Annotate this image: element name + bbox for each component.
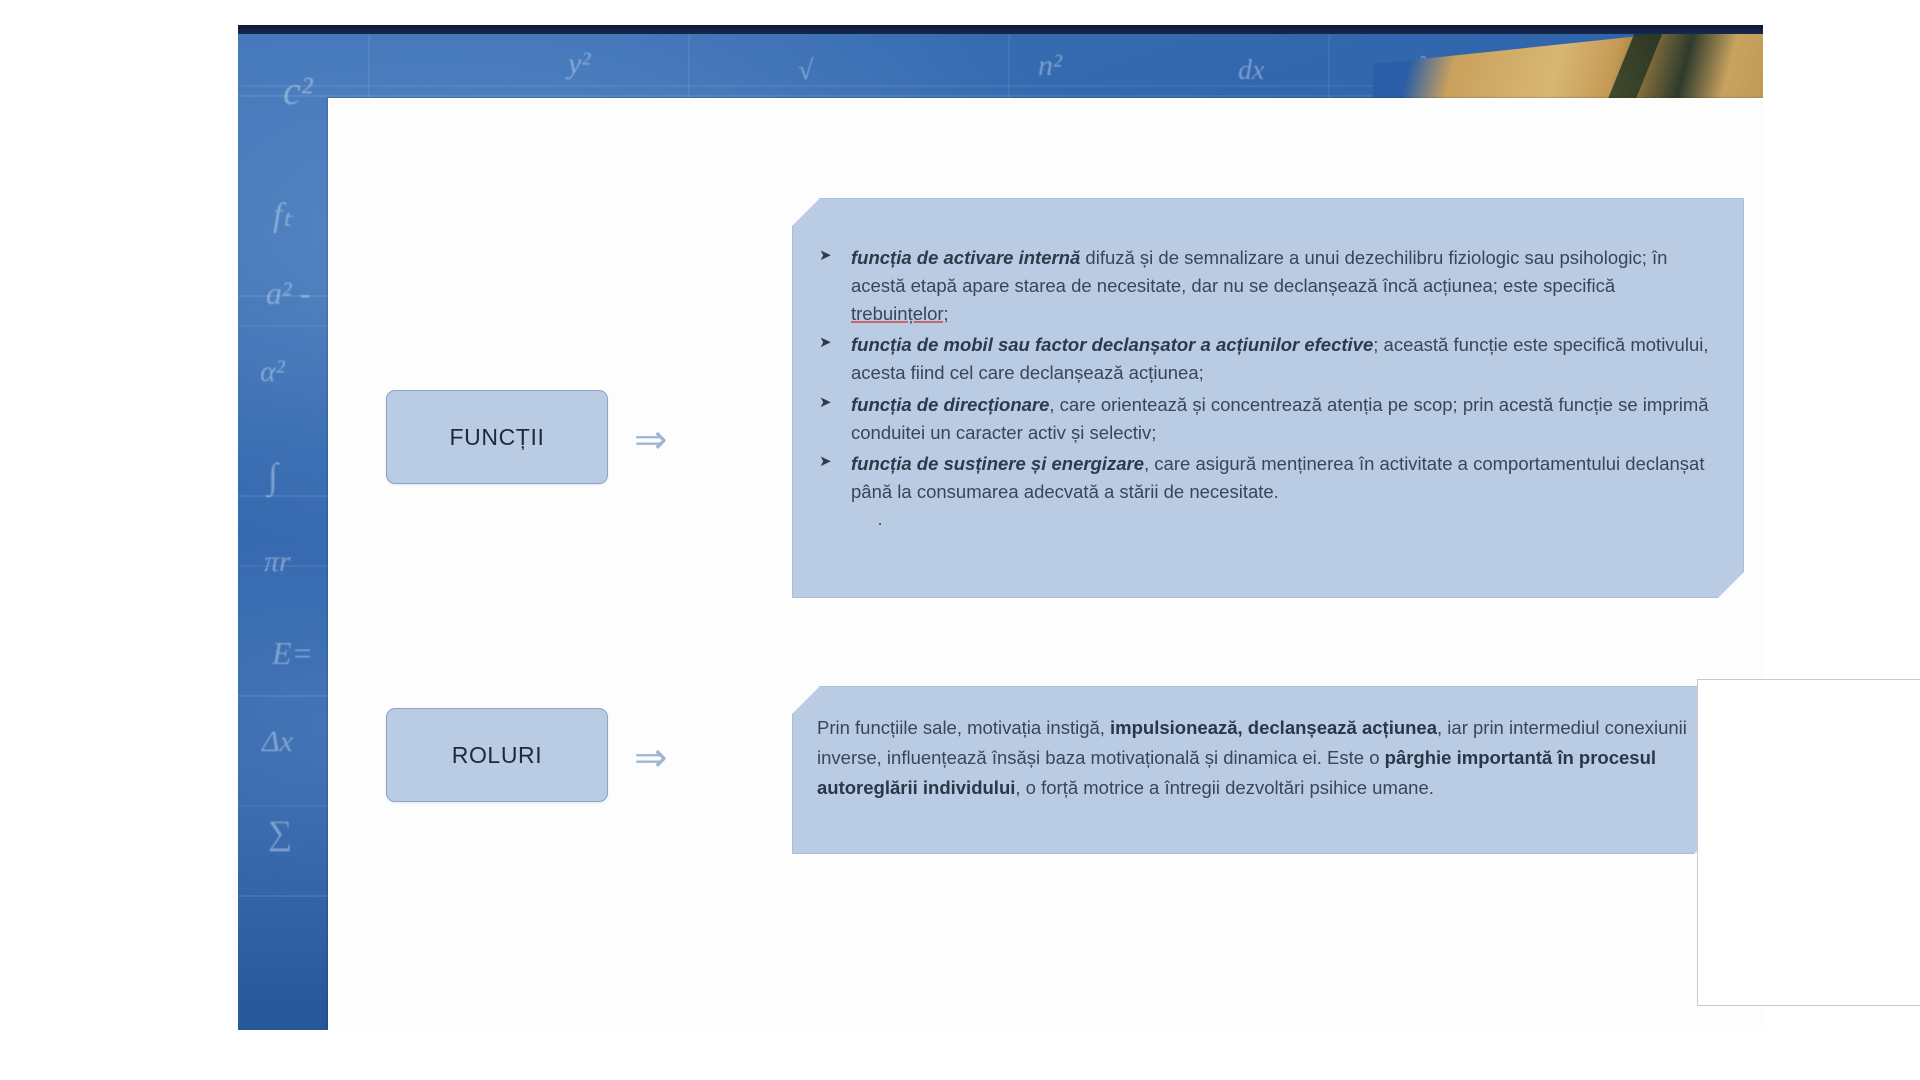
- video-top-edge: [238, 25, 1763, 34]
- function-emphasis: funcția de activare internă: [851, 247, 1080, 268]
- chalk-formula: Δx: [262, 725, 293, 759]
- chalk-formula: α²: [260, 355, 285, 389]
- list-item: funcția de activare internă difuză și de…: [817, 244, 1709, 328]
- box-roluri: Prin funcțiile sale, motivația instigă, …: [792, 686, 1720, 854]
- chalk-formula: dx: [1238, 55, 1264, 87]
- gold-shape: [1373, 34, 1763, 106]
- chalk-formula: ∑: [268, 815, 292, 853]
- function-emphasis: funcția de mobil sau factor declanșator …: [851, 334, 1373, 355]
- label-roluri: ROLURI: [386, 708, 608, 802]
- screenshot-root: c² x² fₜ a² - α² ∫ πr E= Δx ∑ y² √ n² dx…: [0, 0, 1920, 1080]
- chalk-formula: a² -: [266, 275, 310, 312]
- row-roluri: ROLURI ⇒: [386, 708, 668, 802]
- roles-part1: Prin funcțiile sale, motivația instigă,: [817, 717, 1110, 738]
- slide-sheet: FUNCȚII ⇒ funcția de activare internă di…: [328, 98, 1763, 1030]
- label-functii: FUNCȚII: [386, 390, 608, 484]
- corner-white-panel: [1697, 679, 1920, 1006]
- chalk-formula: πr: [264, 545, 291, 579]
- chalk-formula: ∫: [268, 455, 278, 497]
- roles-bold1: impulsionează, declanșează acțiunea: [1110, 717, 1437, 738]
- list-item: funcția de direcționare, care orientează…: [817, 391, 1709, 447]
- row-functii: FUNCȚII ⇒: [386, 390, 668, 484]
- functions-list: funcția de activare internă difuză și de…: [817, 244, 1709, 531]
- video-slide-frame: c² x² fₜ a² - α² ∫ πr E= Δx ∑ y² √ n² dx…: [238, 25, 1763, 1030]
- function-emphasis: funcția de direcționare: [851, 394, 1049, 415]
- list-item: funcția de susținere și energizare, care…: [817, 450, 1709, 506]
- gold-decoration-corner: [1373, 34, 1763, 106]
- chalk-formula: y²: [568, 47, 590, 81]
- box-functii: funcția de activare internă difuză și de…: [792, 198, 1744, 598]
- arrow-right-icon: ⇒: [634, 420, 668, 460]
- chalk-formula: √: [798, 55, 813, 87]
- chalk-formula: c²: [283, 67, 313, 114]
- roles-part3: , o forță motrice a întregii dezvoltări …: [1015, 777, 1434, 798]
- chalk-formula: E=: [272, 635, 313, 672]
- function-underlined: trebuințelor;: [851, 303, 949, 324]
- chalk-formula: fₜ: [273, 195, 292, 235]
- chalk-formula: n²: [1038, 49, 1062, 83]
- roles-paragraph: Prin funcțiile sale, motivația instigă, …: [817, 713, 1689, 803]
- list-item-trailing-dot: [817, 509, 1709, 531]
- list-item: funcția de mobil sau factor declanșator …: [817, 331, 1709, 387]
- arrow-right-icon: ⇒: [634, 738, 668, 778]
- function-emphasis: funcția de susținere și energizare: [851, 453, 1144, 474]
